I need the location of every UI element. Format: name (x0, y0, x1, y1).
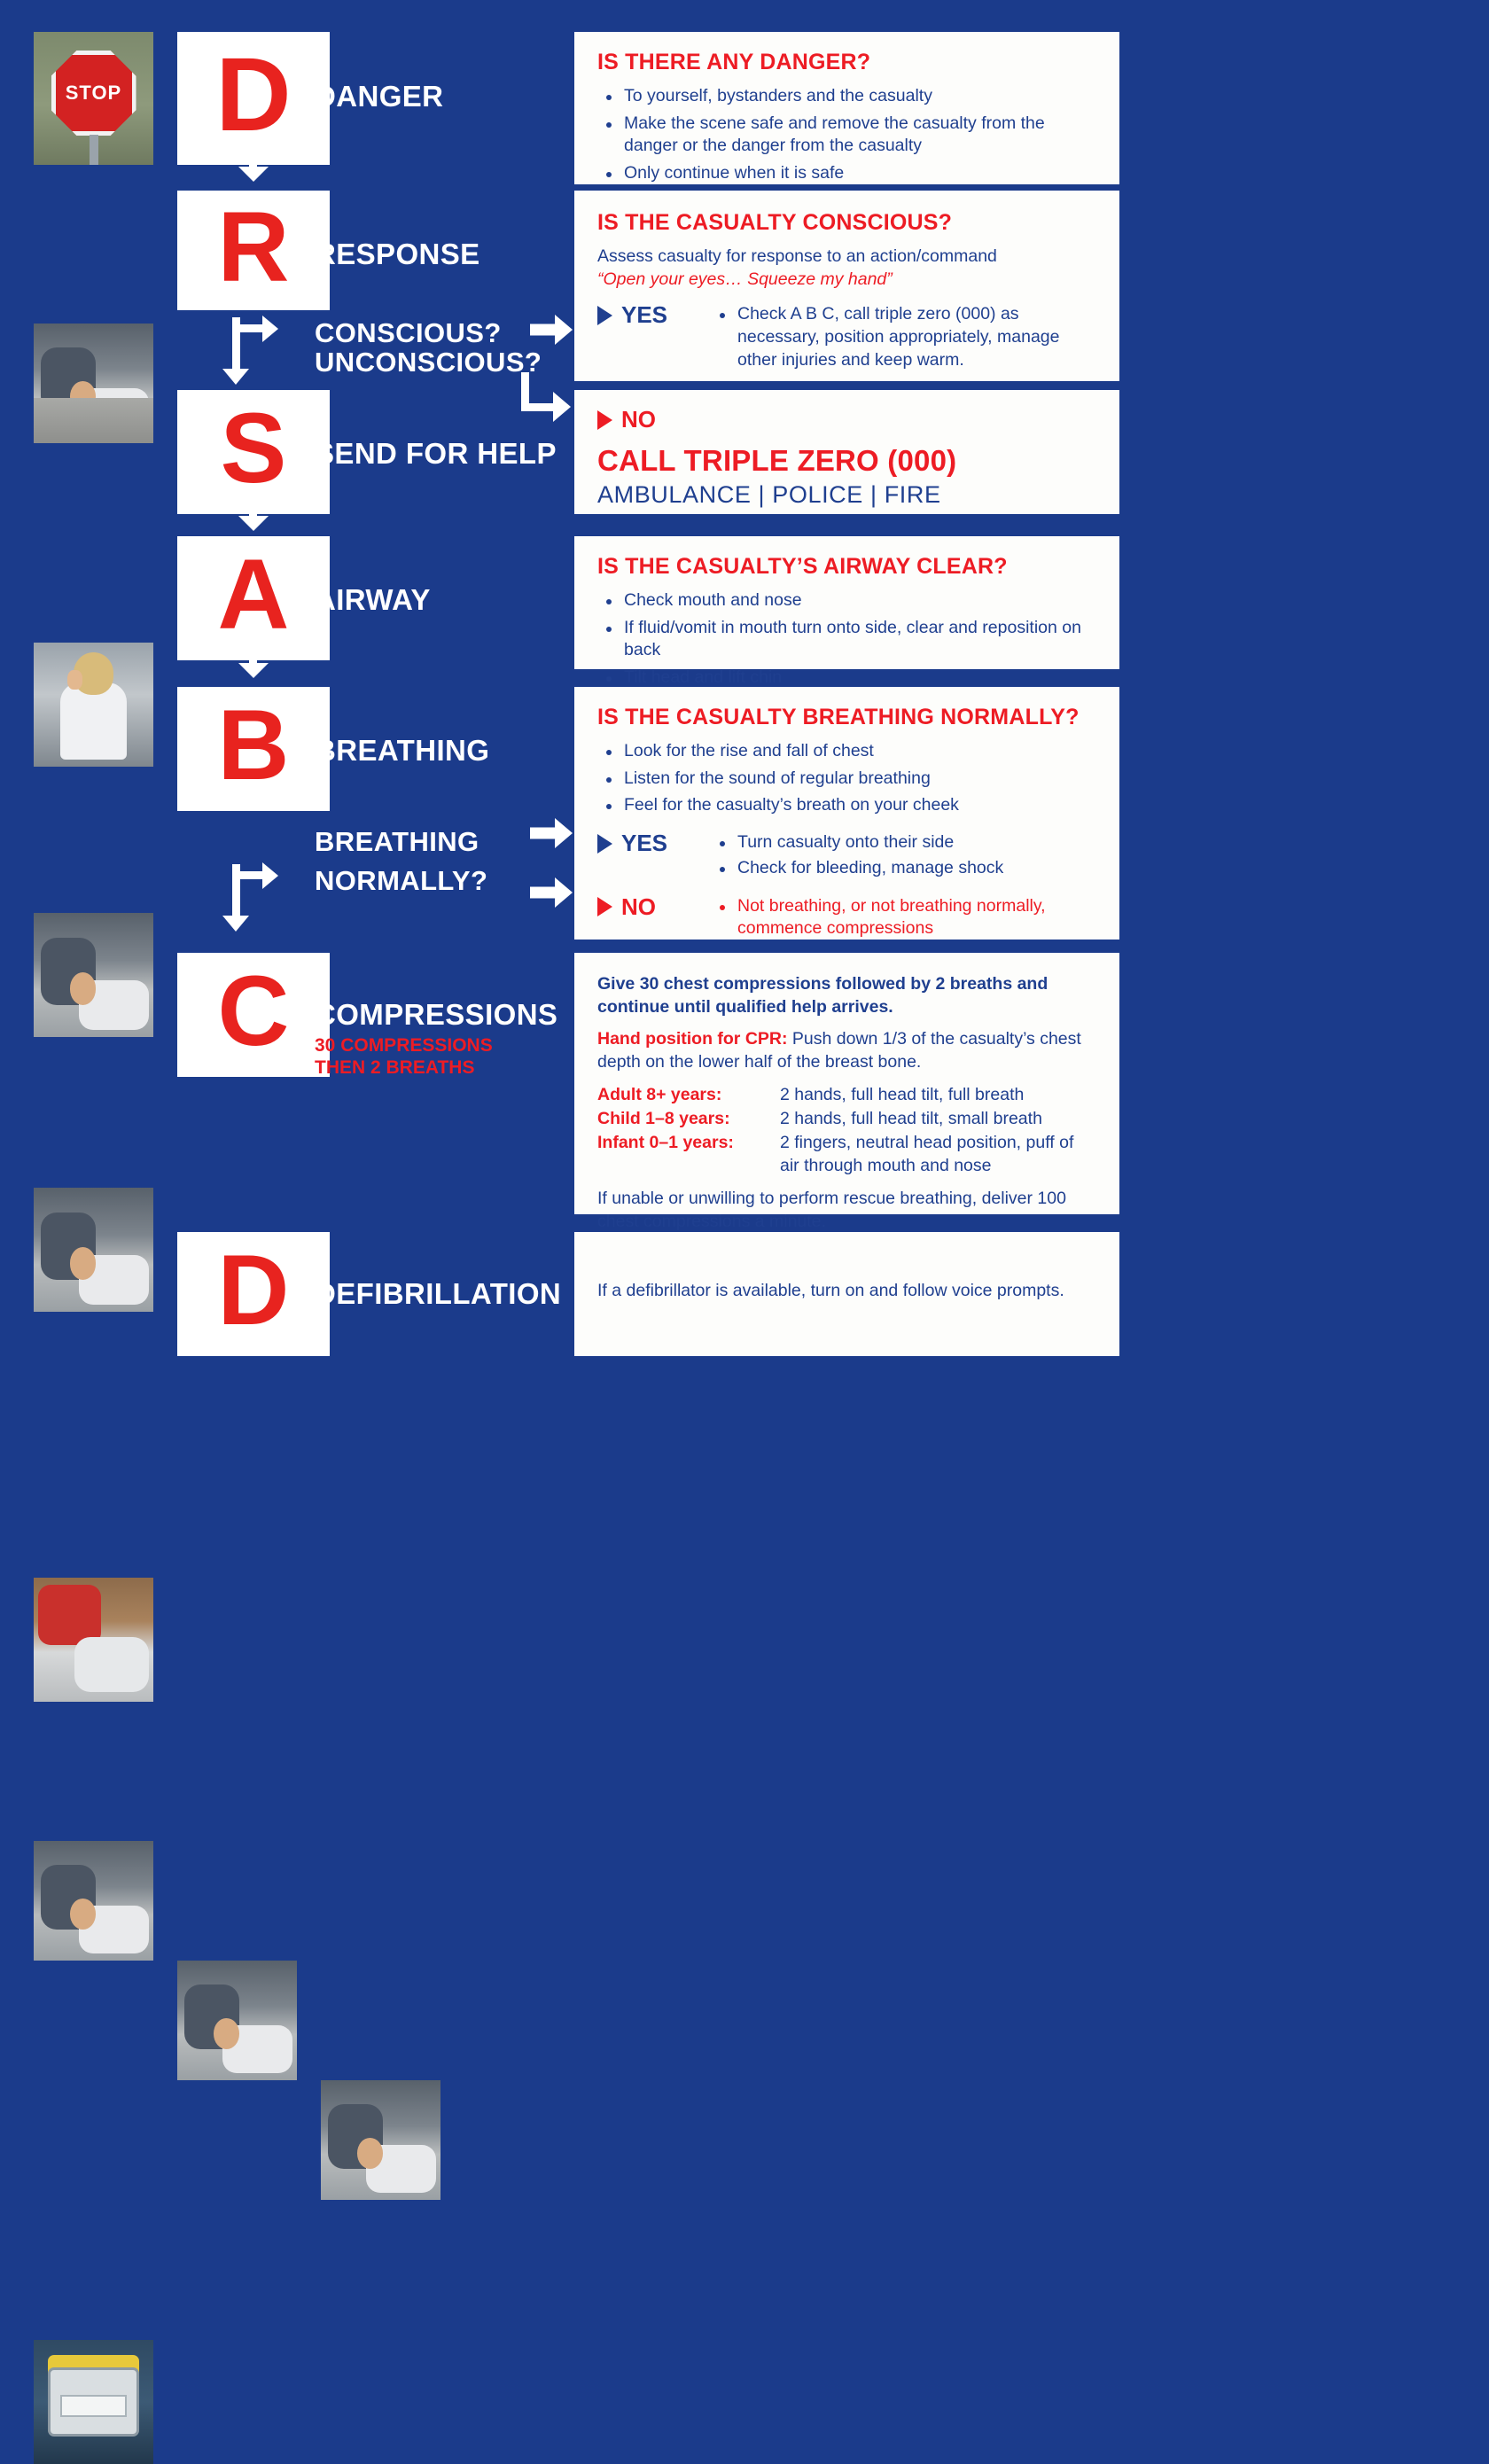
table-row: Infant 0–1 years: 2 fingers, neutral hea… (597, 1131, 1096, 1178)
casualty-head (357, 2138, 384, 2169)
list-item: Check A B C, call triple zero (000) as n… (711, 303, 1096, 371)
panel-response: IS THE CASUALTY CONSCIOUS? Assess casual… (574, 191, 1119, 381)
no-label: NO (621, 406, 656, 433)
triangle-right-icon-no (597, 410, 612, 430)
fork-horizontal (232, 324, 264, 332)
casualty-head (70, 381, 97, 412)
elbow-arrow-icon-unconscious (521, 372, 573, 425)
arrow-head (555, 818, 573, 848)
table-row: Child 1–8 years: 2 hands, full head tilt… (597, 1107, 1096, 1131)
stop-sign-label: STOP (66, 82, 122, 105)
panel-send-for-help: NO CALL TRIPLE ZERO (000) AMBULANCE | PO… (574, 390, 1119, 514)
casualty-head (70, 972, 97, 1004)
compressions-sub-line2: THEN 2 BREATHS (315, 1057, 493, 1080)
breathing-check-photo (34, 1188, 153, 1312)
letter-s: S (221, 399, 287, 498)
branch-line-conscious: CONSCIOUS? (315, 319, 542, 348)
airway-check-photo (34, 913, 153, 1037)
age-guidance-table: Adult 8+ years: 2 hands, full head tilt,… (597, 1083, 1096, 1178)
yes-tag-response: YES (597, 301, 711, 329)
list-item: Turn casualty onto their side (711, 831, 1096, 854)
fork-head-down (222, 916, 249, 932)
letter-tile-d-danger: D (177, 32, 330, 165)
branch-line-breathing: BREATHING (315, 823, 487, 862)
cpr-photo-1 (34, 1841, 153, 1961)
response-lead-text: Assess casualty for response to an actio… (597, 246, 1096, 269)
trainer-figure (38, 1585, 100, 1644)
manikin-figure (74, 1637, 149, 1692)
step-label-breathing: BREATHING (315, 736, 489, 767)
letter-tile-d-defibrillation: D (177, 1232, 330, 1356)
breathing-bullet-list: Look for the rise and fall of chest List… (597, 740, 1096, 817)
list-item: Not breathing, or not breathing normally… (711, 895, 1096, 940)
airway-bullet-list: Check mouth and nose If fluid/vomit in m… (597, 589, 1096, 690)
branch-line-normally: NORMALLY? (315, 862, 487, 901)
step-label-response: RESPONSE (315, 239, 480, 270)
list-item: Feel for the casualty’s breath on your c… (597, 794, 1096, 817)
response-quote: “Open your eyes… Squeeze my hand” (597, 269, 1096, 292)
triangle-right-icon-yes (597, 834, 612, 854)
arrow-down-icon-d-r (238, 167, 269, 182)
breathing-yes-bullets: Turn casualty onto their side Check for … (711, 831, 1096, 879)
list-item: Listen for the sound of regular breathin… (597, 768, 1096, 791)
fork-head-right (262, 862, 278, 889)
letter-c: C (218, 962, 290, 1061)
call-triple-zero-title: CALL TRIPLE ZERO (000) (597, 444, 1096, 478)
age-action: 2 fingers, neutral head position, puff o… (759, 1131, 1096, 1178)
list-item: Check mouth and nose (597, 589, 1096, 612)
list-item: To yourself, bystanders and the casualty (597, 85, 1096, 108)
panel-airway: IS THE CASUALTY’S AIRWAY CLEAR? Check mo… (574, 536, 1119, 669)
letter-r: R (218, 198, 290, 297)
fork-arrow-icon-response (218, 317, 298, 386)
panel-heading-danger: IS THERE ANY DANGER? (597, 50, 1096, 75)
letter-tile-c-compressions: C (177, 953, 330, 1077)
fork-head-right (262, 316, 278, 342)
aed-training-photo (34, 1578, 153, 1702)
age-action: 2 hands, full head tilt, full breath (759, 1083, 1096, 1107)
no-label: NO (621, 893, 656, 921)
step-label-airway: AIRWAY (315, 585, 431, 616)
panel-breathing: IS THE CASUALTY BREATHING NORMALLY? Look… (574, 687, 1119, 940)
arrow-down-icon-s-a (238, 516, 269, 531)
age-label: Infant 0–1 years: (597, 1131, 759, 1178)
casualty-head (70, 1899, 97, 1930)
compressions-subtitle: 30 COMPRESSIONS THEN 2 BREATHS (315, 1035, 493, 1080)
panel-heading-airway: IS THE CASUALTY’S AIRWAY CLEAR? (597, 554, 1096, 580)
age-label: Adult 8+ years: (597, 1083, 759, 1107)
arrow-right-icon-breathing-no (530, 877, 573, 908)
branch-label-conscious: CONSCIOUS? UNCONSCIOUS? (315, 319, 542, 377)
defibrillation-text: If a defibrillator is available, turn on… (597, 1280, 1096, 1303)
danger-bullet-list: To yourself, bystanders and the casualty… (597, 85, 1096, 185)
step-label-send-for-help: SEND FOR HELP (315, 439, 557, 470)
step-label-compressions: COMPRESSIONS (315, 1000, 557, 1031)
fork-arrow-icon-breathing (218, 864, 298, 933)
panel-danger: IS THERE ANY DANGER? To yourself, bystan… (574, 32, 1119, 184)
letter-tile-s-send: S (177, 390, 330, 514)
step-label-danger: DANGER (315, 82, 443, 113)
stop-sign-photo: STOP (34, 32, 153, 165)
letter-d-defib: D (218, 1241, 290, 1340)
elbow-horizontal (521, 403, 555, 411)
response-yes-row: YES Check A B C, call triple zero (000) … (597, 301, 1096, 374)
age-action: 2 hands, full head tilt, small breath (759, 1107, 1096, 1131)
breathing-no-row: NO Not breathing, or not breathing norma… (597, 893, 1096, 943)
triangle-right-icon-yes (597, 306, 612, 325)
triangle-right-icon-no (597, 897, 612, 916)
panel-compressions: Give 30 chest compressions followed by 2… (574, 953, 1119, 1214)
compressions-intro: Give 30 chest compressions followed by 2… (597, 972, 1096, 1018)
letter-d: D (215, 43, 291, 147)
hand-position-label: Hand position for CPR: (597, 1029, 787, 1049)
defibrillator-photo (34, 2340, 153, 2464)
yes-label: YES (621, 830, 667, 857)
list-item: Only continue when it is safe (597, 162, 1096, 185)
photo-content (34, 324, 153, 443)
list-item: Make the scene safe and remove the casua… (597, 113, 1096, 158)
arrow-right-icon-breathing-yes (530, 818, 573, 848)
fork-head-down (222, 369, 249, 385)
stop-sign-icon: STOP (51, 51, 136, 136)
response-yes-bullets: Check A B C, call triple zero (000) as n… (711, 303, 1096, 371)
arrow-head (555, 315, 573, 345)
emergency-services-list: AMBULANCE | POLICE | FIRE (597, 481, 1096, 509)
casualty-head (214, 2018, 240, 2049)
compressions-sub-line1: 30 COMPRESSIONS (315, 1035, 493, 1057)
branch-label-breathing-normally: BREATHING NORMALLY? (315, 823, 487, 901)
compressions-intro-text: Give 30 chest compressions followed by 2… (597, 974, 1048, 1017)
sign-post (90, 135, 98, 165)
woman-on-phone-photo (34, 643, 153, 767)
rescuer-figure (41, 347, 96, 412)
no-tag-send-help: NO (597, 406, 1096, 433)
arrow-down-icon-a-b (238, 663, 269, 678)
person-hand (67, 670, 83, 690)
step-label-defibrillation: DEFIBRILLATION (315, 1279, 561, 1310)
list-item: If fluid/vomit in mouth turn onto side, … (597, 617, 1096, 662)
panel-heading-breathing: IS THE CASUALTY BREATHING NORMALLY? (597, 705, 1096, 730)
cpr-photo-2 (177, 1961, 297, 2080)
panel-defibrillation: If a defibrillator is available, turn on… (574, 1232, 1119, 1356)
aed-screen (60, 2395, 128, 2417)
letter-tile-b-breathing: B (177, 687, 330, 811)
list-item: Check for bleeding, manage shock (711, 857, 1096, 880)
age-label: Child 1–8 years: (597, 1107, 759, 1131)
yes-label: YES (621, 301, 667, 329)
arrow-head (555, 877, 573, 908)
breathing-no-bullets: Not breathing, or not breathing normally… (711, 895, 1096, 940)
elbow-head (553, 392, 571, 422)
letter-b: B (218, 696, 290, 795)
response-yes-body: Check A B C, call triple zero (000) as n… (711, 301, 1096, 374)
hand-position-paragraph: Hand position for CPR: Push down 1/3 of … (597, 1027, 1096, 1073)
panel-heading-response: IS THE CASUALTY CONSCIOUS? (597, 210, 1096, 236)
branch-line-unconscious: UNCONSCIOUS? (315, 348, 542, 378)
letter-a: A (218, 545, 290, 644)
arrow-right-icon-conscious (530, 315, 573, 345)
cpr-photo-3 (321, 2080, 440, 2200)
breathing-yes-body: Turn casualty onto their side Check for … (711, 830, 1096, 882)
casualty-head (70, 1247, 97, 1279)
breathing-yes-row: YES Turn casualty onto their side Check … (597, 830, 1096, 882)
letter-tile-r-response: R (177, 191, 330, 310)
street-cpr-photo (34, 324, 153, 443)
compressions-footer: If unable or unwilling to perform rescue… (597, 1187, 1096, 1233)
no-tag-breathing: NO (597, 893, 711, 921)
table-row: Adult 8+ years: 2 hands, full head tilt,… (597, 1083, 1096, 1107)
breathing-no-body: Not breathing, or not breathing normally… (711, 893, 1096, 943)
fork-horizontal (232, 871, 264, 879)
list-item: Look for the rise and fall of chest (597, 740, 1096, 763)
yes-tag-breathing: YES (597, 830, 711, 857)
infographic-page: STOP D DANGER IS THERE ANY DANGER? To yo… (0, 0, 1489, 1807)
letter-tile-a-airway: A (177, 536, 330, 660)
